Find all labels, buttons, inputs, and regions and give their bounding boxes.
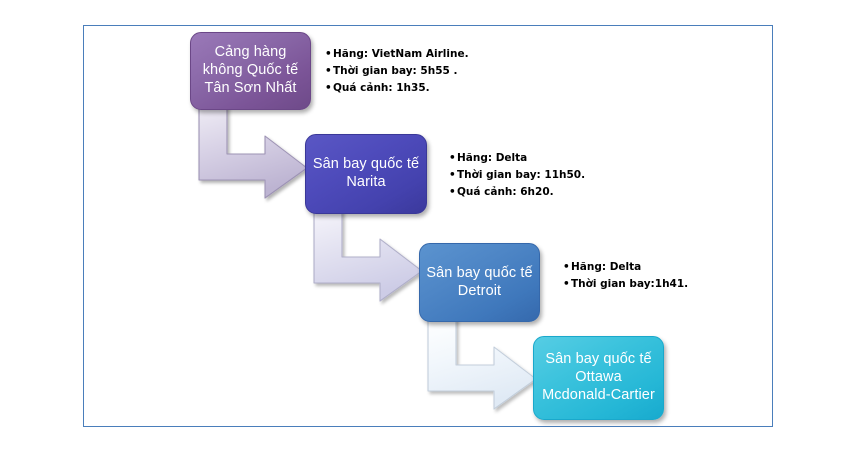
diagram-canvas: Cảng hàng không Quốc tế Tân Sơn Nhất Sân… [0,0,850,450]
info-line: Hãng: Delta [449,150,585,167]
info-line: Thời gian bay: 11h50. [449,167,585,184]
node-origin-label: Cảng hàng không Quốc tế Tân Sơn Nhất [191,44,310,97]
info-block-origin: Hãng: VietNam Airline. Thời gian bay: 5h… [325,46,469,97]
connector-arrow-narita-to-detroit[interactable] [312,209,430,301]
connector-arrow-detroit-to-ottawa[interactable] [426,317,544,409]
info-line: Hãng: VietNam Airline. [325,46,469,63]
info-block-detroit: Hãng: Delta Thời gian bay:1h41. [563,259,688,293]
node-detroit[interactable]: Sân bay quốc tế Detroit [419,243,540,322]
info-line: Thời gian bay: 5h55 . [325,63,469,80]
node-narita[interactable]: Sân bay quốc tế Narita [305,134,427,214]
info-block-narita: Hãng: Delta Thời gian bay: 11h50. Quá cả… [449,150,585,201]
connector-arrow-origin-to-narita[interactable] [197,106,315,198]
info-line: Quá cảnh: 1h35. [325,80,469,97]
node-origin-tan-son-nhat[interactable]: Cảng hàng không Quốc tế Tân Sơn Nhất [190,32,311,110]
info-line: Quá cảnh: 6h20. [449,184,585,201]
node-ottawa-mcdonald-cartier[interactable]: Sân bay quốc tế Ottawa Mcdonald-Cartier [533,336,664,420]
info-line: Thời gian bay:1h41. [563,276,688,293]
node-narita-label: Sân bay quốc tế Narita [306,156,426,191]
info-line: Hãng: Delta [563,259,688,276]
node-detroit-label: Sân bay quốc tế Detroit [420,265,539,300]
node-ottawa-label: Sân bay quốc tế Ottawa Mcdonald-Cartier [534,351,663,404]
